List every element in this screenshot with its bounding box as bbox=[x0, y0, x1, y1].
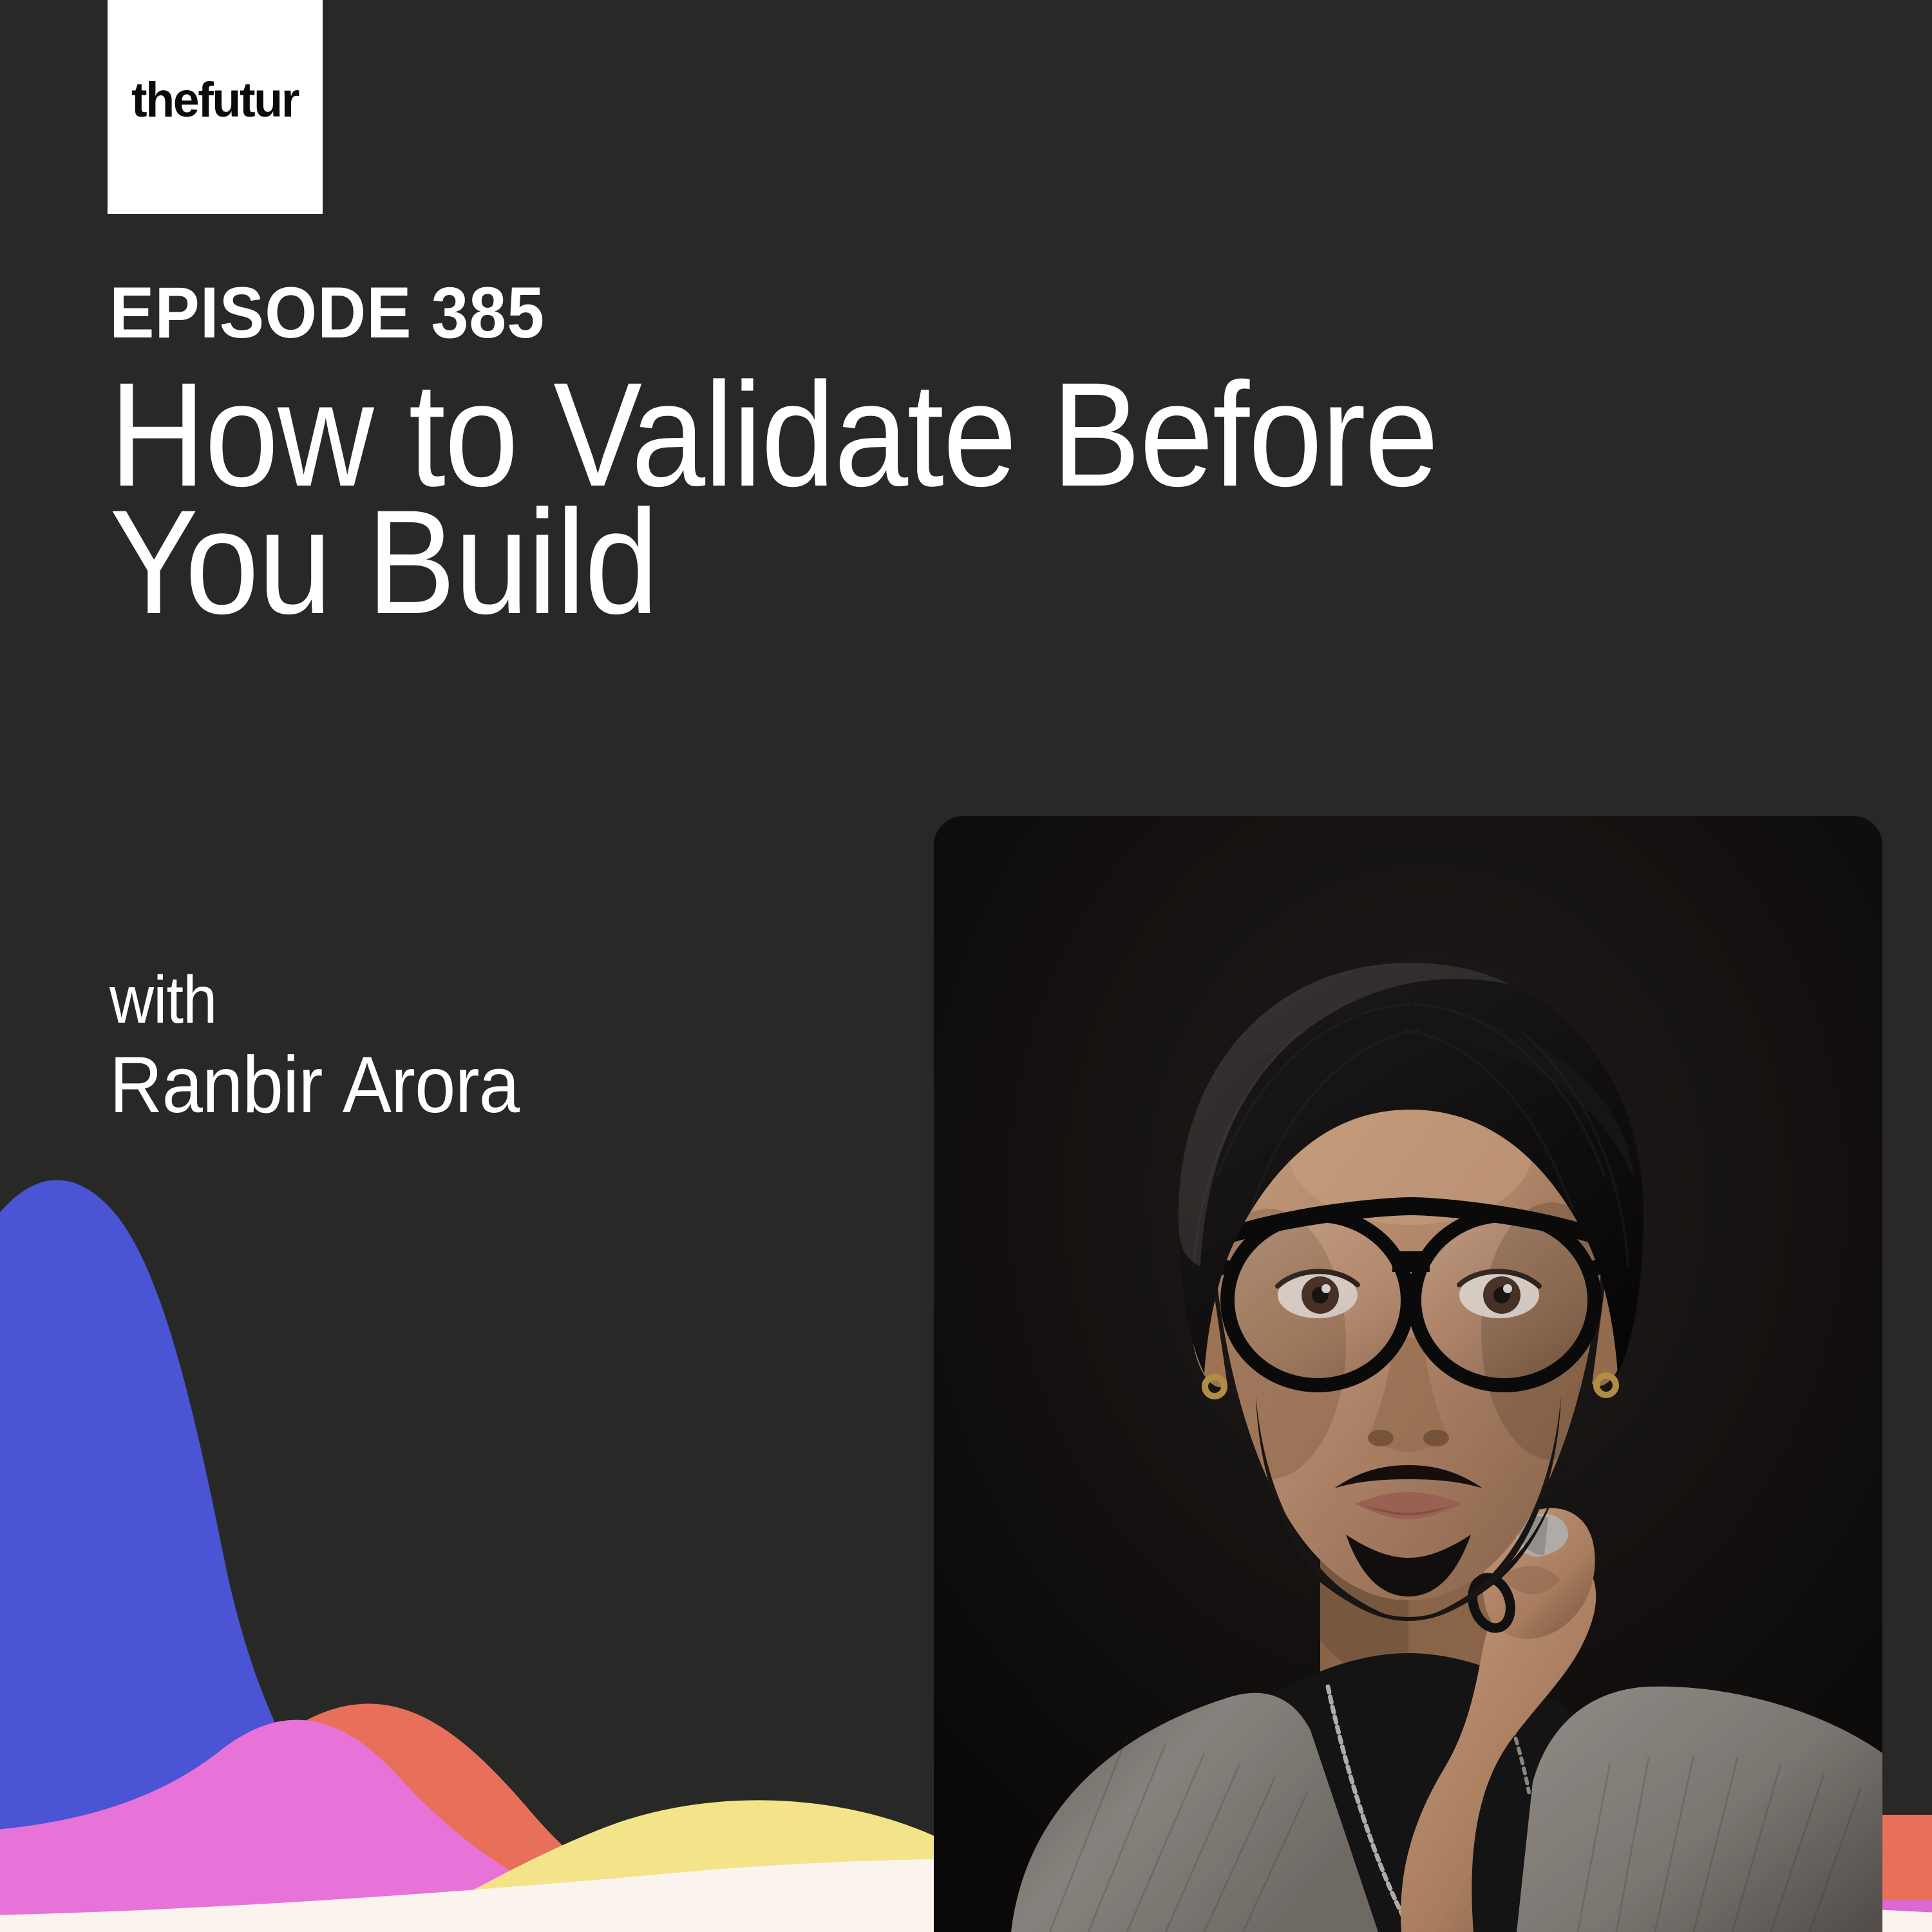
guest-last-name: Arora bbox=[343, 1041, 519, 1130]
episode-title-line-2: You Build bbox=[109, 498, 1385, 626]
wave-right-coral bbox=[1882, 1815, 1932, 1905]
guest-name: RanbirArora bbox=[109, 1043, 519, 1127]
guest-portrait-photo bbox=[934, 816, 1882, 1932]
guest-with-label: with bbox=[109, 966, 519, 1034]
episode-label: EPISODE 385 bbox=[109, 277, 1427, 349]
guest-credit-block: with RanbirArora bbox=[109, 966, 555, 1127]
thefutur-logo: thefutur bbox=[108, 0, 323, 214]
episode-text-block: EPISODE 385 How to Validate Before You B… bbox=[109, 277, 1526, 626]
podcast-cover-art: thefutur EPISODE 385 How to Validate Bef… bbox=[0, 0, 1932, 1932]
guest-first-name: Ranbir bbox=[109, 1041, 323, 1130]
episode-title: How to Validate Before You Build bbox=[109, 371, 1385, 626]
thefutur-logo-text: thefutur bbox=[131, 76, 298, 125]
